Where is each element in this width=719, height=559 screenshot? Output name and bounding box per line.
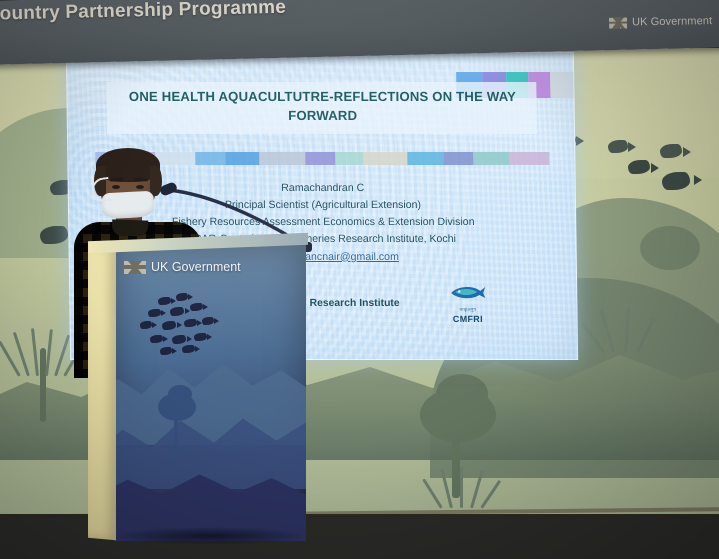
sea-fan — [440, 468, 490, 508]
conference-photo-scene: ONE HEALTH AQUACULTUTRE-REFLECTIONS ON T… — [0, 0, 719, 559]
fish-silhouette — [150, 335, 163, 343]
branching-coral — [600, 308, 654, 352]
union-flag-icon — [609, 17, 627, 28]
cmfri-logo-subtitle: भाकृअनुप — [444, 307, 492, 313]
speaker-eye — [112, 185, 120, 189]
fish-silhouette — [190, 303, 203, 311]
cmfri-logo-name: CMFRI — [444, 314, 492, 324]
cmfri-fish-icon — [447, 282, 487, 302]
podium-side-panel — [88, 246, 116, 540]
fish-silhouette — [660, 144, 682, 158]
banner-uk-government-label: UK Government — [632, 15, 712, 28]
podium: UK Government — [88, 243, 306, 543]
fish-silhouette — [172, 335, 186, 344]
fish-silhouette — [628, 160, 650, 174]
podium-uk-government-label: UK Government — [151, 260, 241, 274]
fish-silhouette — [158, 297, 171, 305]
fish-silhouette — [148, 309, 161, 317]
venue-banner-title: ountry Partnership Programme — [0, 0, 286, 25]
speaker-eye — [136, 185, 144, 189]
fish-silhouette — [608, 140, 628, 153]
fish-silhouette — [176, 293, 188, 301]
fish-silhouette — [184, 319, 197, 327]
podium-ground-shadow — [114, 527, 306, 545]
fish-silhouette — [162, 321, 176, 330]
podium-underwater-art — [114, 287, 306, 541]
fish-silhouette — [182, 345, 195, 353]
speaker-collar — [112, 219, 149, 236]
union-flag-icon — [124, 261, 146, 274]
fish-silhouette — [160, 347, 172, 355]
fish-silhouette — [194, 333, 207, 341]
fish-silhouette — [170, 307, 184, 316]
coral-tree-crown — [436, 374, 488, 414]
fish-silhouette — [202, 317, 214, 325]
banner-uk-government-logo: UK Government — [609, 15, 712, 29]
coral-blob — [640, 226, 700, 270]
fish-silhouette — [662, 172, 690, 190]
coral-fan — [18, 330, 74, 376]
fish-silhouette — [140, 321, 152, 329]
speaker-hair-side — [150, 166, 162, 196]
podium-reef-layer — [114, 335, 306, 445]
slide-title: ONE HEALTH AQUACULTUTRE-REFLECTIONS ON T… — [112, 88, 533, 125]
coral-tree-crown — [168, 385, 192, 403]
podium-uk-government-logo: UK Government — [124, 260, 241, 274]
cmfri-logo: भाकृअनुप CMFRI — [443, 282, 492, 324]
